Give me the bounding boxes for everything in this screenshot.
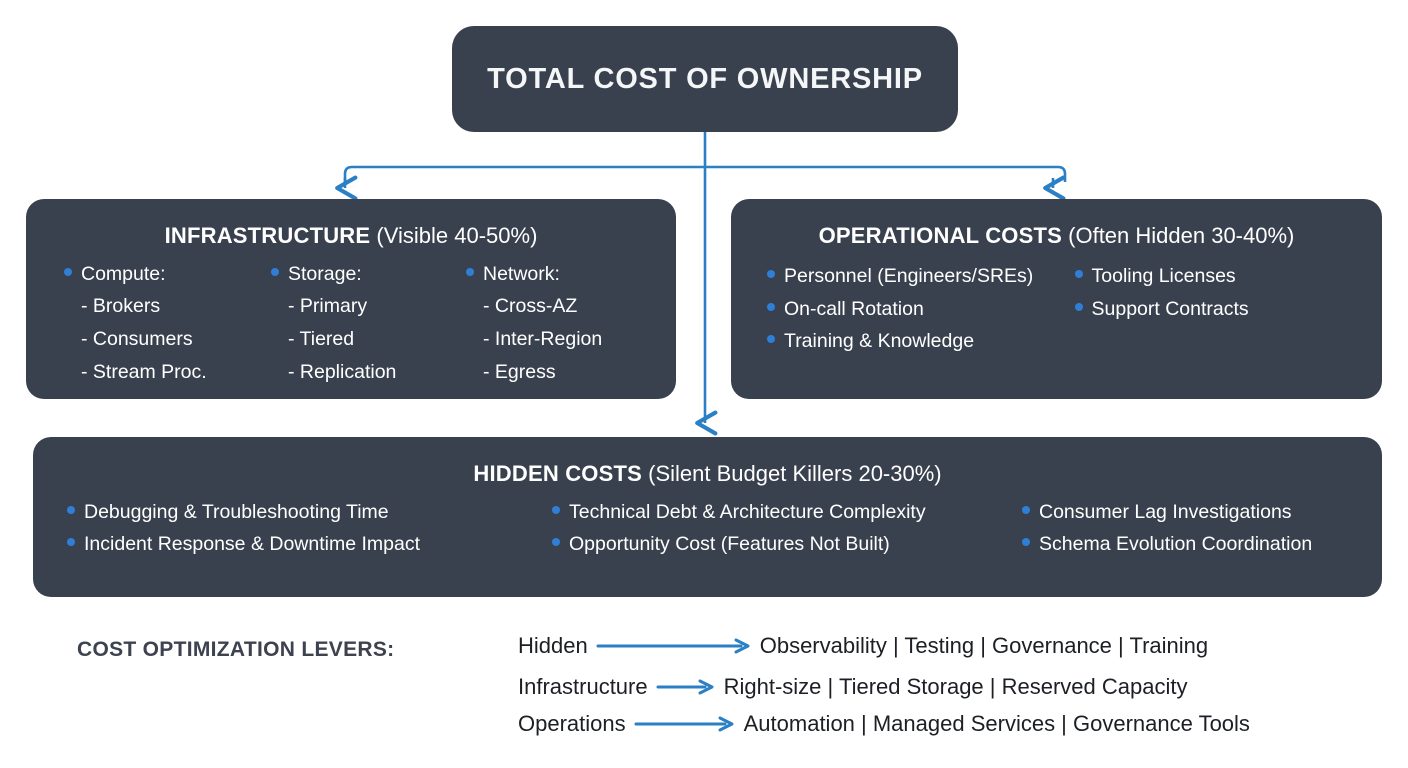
arrow-right-icon — [634, 713, 734, 735]
list-item: Debugging & Troubleshooting Time — [67, 503, 552, 523]
levers-heading: COST OPTIMIZATION LEVERS: — [77, 638, 394, 662]
list-item: Training & Knowledge — [767, 332, 1075, 352]
operational-costs-title-strong: OPERATIONAL COSTS — [819, 223, 1062, 248]
sub-item: - Inter-Region — [466, 328, 673, 351]
sub-item: - Cross-AZ — [466, 295, 673, 318]
sub-item: - Replication — [271, 361, 466, 384]
column-heading: Storage: — [288, 265, 362, 285]
infrastructure-columns: Compute: - Brokers - Consumers - Stream … — [26, 265, 676, 384]
column-heading: Compute: — [81, 265, 166, 285]
list-item-label: On-call Rotation — [784, 300, 924, 320]
bullet-dot-icon — [767, 303, 775, 311]
page-title: TOTAL COST OF OWNERSHIP — [487, 63, 923, 96]
hidden-costs-columns: Debugging & Troubleshooting Time Inciden… — [33, 503, 1382, 566]
total-cost-of-ownership-box: TOTAL COST OF OWNERSHIP — [452, 26, 958, 132]
list-item-label: Consumer Lag Investigations — [1039, 503, 1292, 523]
list-item-label: Incident Response & Downtime Impact — [84, 535, 420, 555]
hidden-costs-title-strong: HIDDEN COSTS — [473, 461, 642, 486]
hidden-costs-title-light: (Silent Budget Killers 20-30%) — [648, 461, 941, 486]
list-item: Personnel (Engineers/SREs) — [767, 267, 1075, 287]
list-item-label: Technical Debt & Architecture Complexity — [569, 503, 926, 523]
list-item: Network: — [466, 265, 673, 285]
hidden-column-3: Consumer Lag Investigations Schema Evolu… — [1022, 503, 1312, 566]
infrastructure-title: INFRASTRUCTURE (Visible 40-50%) — [26, 223, 676, 249]
infrastructure-column-network: Network: - Cross-AZ - Inter-Region - Egr… — [466, 265, 673, 384]
list-item-label: Opportunity Cost (Features Not Built) — [569, 535, 890, 555]
lever-target-label: Right-size | Tiered Storage | Reserved C… — [724, 674, 1188, 700]
infrastructure-title-light: (Visible 40-50%) — [376, 223, 537, 248]
arrow-right-icon — [596, 635, 750, 657]
list-item-label: Tooling Licenses — [1092, 267, 1236, 287]
bullet-dot-icon — [1022, 538, 1030, 546]
list-item: Incident Response & Downtime Impact — [67, 535, 552, 555]
list-item: Schema Evolution Coordination — [1022, 535, 1312, 555]
lever-source-label: Hidden — [518, 633, 588, 659]
sub-item: - Egress — [466, 361, 673, 384]
list-item-label: Schema Evolution Coordination — [1039, 535, 1312, 555]
operational-costs-box: OPERATIONAL COSTS (Often Hidden 30-40%) … — [731, 199, 1382, 399]
lever-target-label: Automation | Managed Services | Governan… — [744, 711, 1250, 737]
bullet-dot-icon — [64, 268, 72, 276]
infrastructure-title-strong: INFRASTRUCTURE — [165, 223, 371, 248]
bullet-dot-icon — [552, 506, 560, 514]
operational-column-right: Tooling Licenses Support Contracts — [1075, 267, 1383, 365]
list-item: Compute: — [64, 265, 271, 285]
sub-item: - Stream Proc. — [64, 361, 271, 384]
infrastructure-box: INFRASTRUCTURE (Visible 40-50%) Compute:… — [26, 199, 676, 399]
infrastructure-column-compute: Compute: - Brokers - Consumers - Stream … — [64, 265, 271, 384]
bullet-dot-icon — [1075, 270, 1083, 278]
sub-item: - Brokers — [64, 295, 271, 318]
bullet-dot-icon — [271, 268, 279, 276]
lever-source-label: Infrastructure — [518, 674, 648, 700]
list-item-label: Training & Knowledge — [784, 332, 974, 352]
lever-source-label: Operations — [518, 711, 626, 737]
list-item: Support Contracts — [1075, 300, 1383, 320]
bullet-dot-icon — [552, 538, 560, 546]
list-item: On-call Rotation — [767, 300, 1075, 320]
column-heading: Network: — [483, 265, 560, 285]
operational-costs-columns: Personnel (Engineers/SREs) On-call Rotat… — [731, 267, 1382, 365]
arrow-right-icon — [656, 676, 714, 698]
diagram-canvas: TOTAL COST OF OWNERSHIP INFRASTRUCTURE (… — [0, 0, 1408, 768]
list-item: Tooling Licenses — [1075, 267, 1383, 287]
bullet-dot-icon — [466, 268, 474, 276]
operational-costs-title-light: (Often Hidden 30-40%) — [1068, 223, 1294, 248]
bullet-dot-icon — [767, 335, 775, 343]
list-item: Consumer Lag Investigations — [1022, 503, 1312, 523]
operational-column-left: Personnel (Engineers/SREs) On-call Rotat… — [767, 267, 1075, 365]
operational-costs-title: OPERATIONAL COSTS (Often Hidden 30-40%) — [731, 223, 1382, 249]
list-item: Opportunity Cost (Features Not Built) — [552, 535, 1022, 555]
list-item-label: Support Contracts — [1092, 300, 1249, 320]
hidden-costs-title: HIDDEN COSTS (Silent Budget Killers 20-3… — [33, 461, 1382, 487]
hidden-costs-box: HIDDEN COSTS (Silent Budget Killers 20-3… — [33, 437, 1382, 597]
list-item-label: Personnel (Engineers/SREs) — [784, 267, 1033, 287]
list-item: Storage: — [271, 265, 466, 285]
lever-row: Infrastructure Right-size | Tiered Stora… — [518, 669, 1187, 705]
bullet-dot-icon — [67, 538, 75, 546]
infrastructure-column-storage: Storage: - Primary - Tiered - Replicatio… — [271, 265, 466, 384]
hidden-column-2: Technical Debt & Architecture Complexity… — [552, 503, 1022, 566]
lever-target-label: Observability | Testing | Governance | T… — [760, 633, 1208, 659]
cost-optimization-levers: COST OPTIMIZATION LEVERS: Infrastructure… — [0, 628, 1408, 748]
bullet-dot-icon — [1022, 506, 1030, 514]
lever-row: Hidden Observability | Testing | Governa… — [518, 628, 1208, 664]
list-item-label: Debugging & Troubleshooting Time — [84, 503, 389, 523]
hidden-column-1: Debugging & Troubleshooting Time Inciden… — [67, 503, 552, 566]
sub-item: - Consumers — [64, 328, 271, 351]
lever-row: Operations Automation | Managed Services… — [518, 706, 1250, 742]
list-item: Technical Debt & Architecture Complexity — [552, 503, 1022, 523]
bullet-dot-icon — [1075, 303, 1083, 311]
bullet-dot-icon — [767, 270, 775, 278]
sub-item: - Tiered — [271, 328, 466, 351]
bullet-dot-icon — [67, 506, 75, 514]
sub-item: - Primary — [271, 295, 466, 318]
